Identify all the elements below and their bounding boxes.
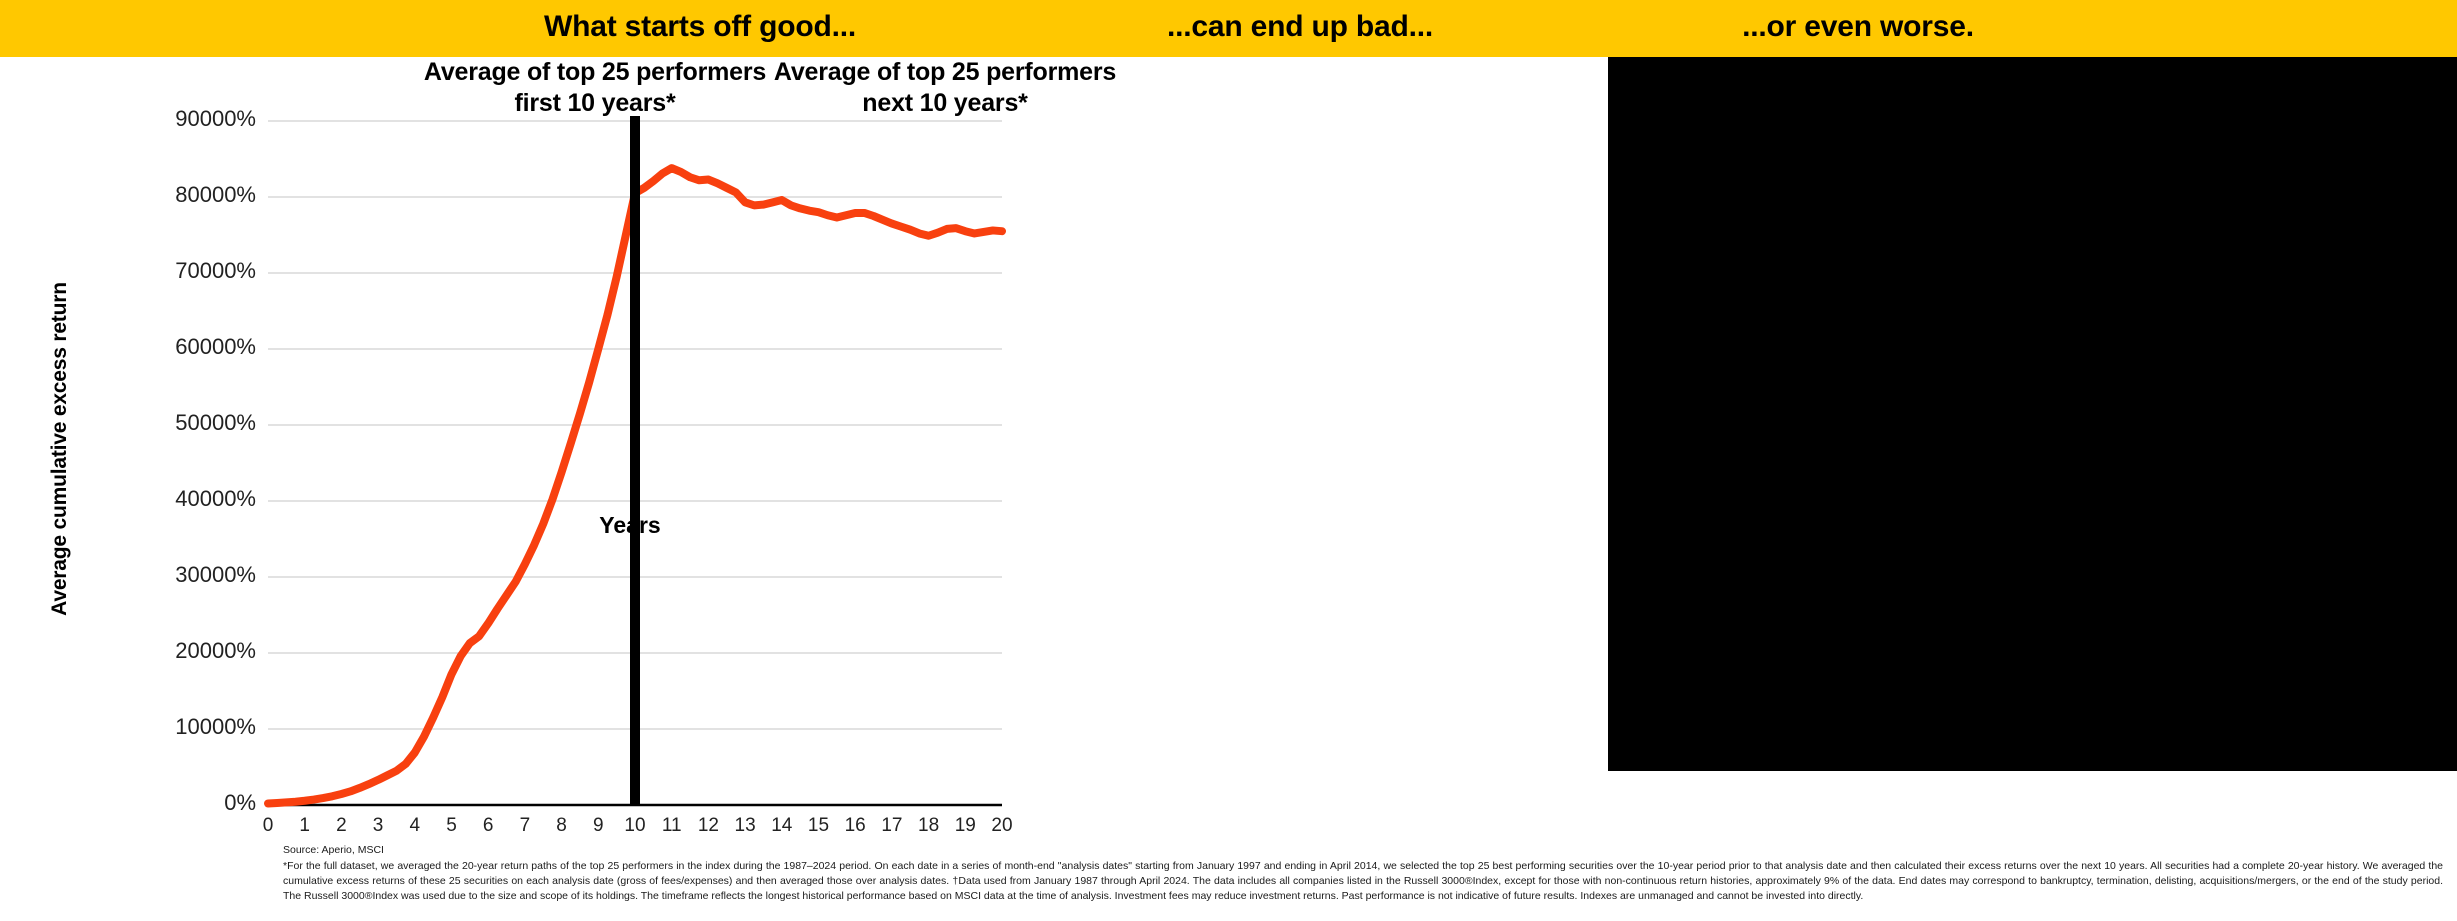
banner-label-bad: ...can end up bad... xyxy=(900,0,1700,57)
source-line: Source: Aperio, MSCI xyxy=(283,843,2443,858)
plot-canvas xyxy=(0,57,1608,847)
banner-label-worse: ...or even worse. xyxy=(1608,0,2108,57)
top-banner: What starts off good... ...can end up ba… xyxy=(0,0,2457,57)
stat-panel: Over the past 37 years 42 % of the stock… xyxy=(1608,57,2457,771)
year-10-divider xyxy=(630,116,640,805)
chart-container: Average of top 25 performers first 10 ye… xyxy=(0,57,1608,847)
footnotes: Source: Aperio, MSCI *For the full datas… xyxy=(283,843,2443,904)
disclosure-text: *For the full dataset, we averaged the 2… xyxy=(283,859,2443,904)
